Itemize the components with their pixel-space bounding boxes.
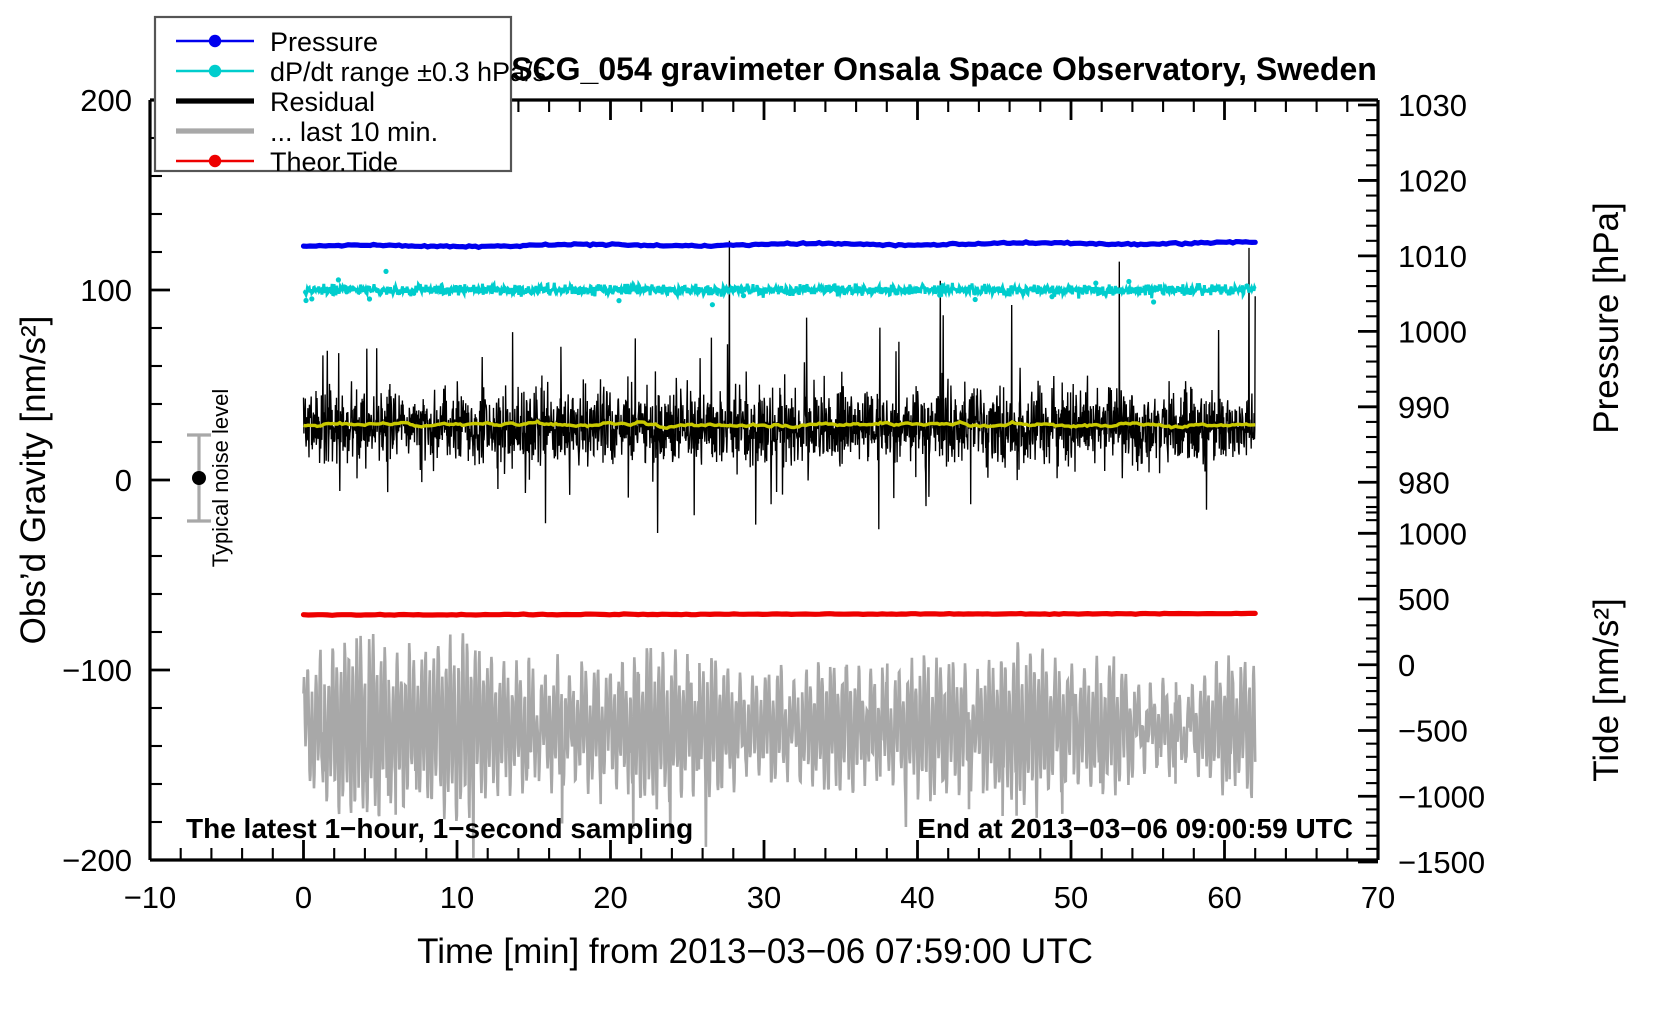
dpdt-outlier-point — [963, 287, 968, 292]
right-pressure-axis-title: Pressure [hPa] — [1587, 202, 1626, 434]
right-pressure-tick-label: 1020 — [1398, 163, 1467, 198]
chart-title: SCG_054 gravimeter Onsala Space Observat… — [511, 51, 1377, 87]
bottom-tick-label: 10 — [440, 880, 474, 915]
right-tide-tick-label: −1500 — [1398, 845, 1485, 880]
dpdt-outlier-point — [344, 289, 349, 294]
right-pressure-tick-label: 1010 — [1398, 239, 1467, 274]
legend-marker-1 — [209, 65, 221, 77]
bottom-tick-label: 70 — [1361, 880, 1395, 915]
right-tide-tick-label: −1000 — [1398, 779, 1485, 814]
right-tide-tick-label: 0 — [1398, 648, 1415, 683]
y-axis-title: Obs’d Gravity [nm/s²] — [14, 316, 53, 645]
right-tide-tick-label: −500 — [1398, 714, 1468, 749]
dpdt-outlier-point — [1049, 294, 1054, 299]
dpdt-outlier-point — [309, 296, 314, 301]
legend-label-0: Pressure — [270, 27, 378, 57]
dpdt-outlier-point — [1067, 287, 1072, 292]
right-tide-axis-title: Tide [nm/s²] — [1587, 598, 1626, 781]
dpdt-outlier-point — [336, 277, 341, 282]
bottom-tick-label: 60 — [1207, 880, 1241, 915]
bottom-tick-label: 20 — [593, 880, 627, 915]
dpdt-outlier-point — [710, 302, 715, 307]
dpdt-outlier-point — [1093, 281, 1098, 286]
left-tick-label: −200 — [62, 843, 132, 878]
dpdt-outlier-point — [973, 297, 978, 302]
chart-root: −200−1000100200 −10010203040506070 98099… — [0, 0, 1660, 1020]
dpdt-outlier-point — [367, 296, 372, 301]
annotation-bottom-right: End at 2013−03−06 09:00:59 UTC — [917, 813, 1353, 844]
right-tide-tick-label: 1000 — [1398, 516, 1467, 551]
dpdt-outlier-point — [616, 298, 621, 303]
bottom-tick-label: 30 — [747, 880, 781, 915]
dpdt-outlier-point — [730, 286, 735, 291]
dpdt-outlier-point — [1151, 299, 1156, 304]
annotation-bottom-left: The latest 1−hour, 1−second sampling — [186, 813, 693, 844]
noise-level-marker — [192, 471, 206, 485]
left-tick-label: 200 — [80, 83, 132, 118]
series-theoretical-tide — [304, 613, 1256, 615]
legend: PressuredP/dt range ±0.3 hPa/sResidual..… — [155, 17, 546, 177]
right-tide-tick-label: 500 — [1398, 582, 1450, 617]
bottom-tick-label: 40 — [900, 880, 934, 915]
left-tick-label: 100 — [80, 273, 132, 308]
dpdt-outlier-point — [1169, 286, 1174, 291]
legend-marker-4 — [209, 155, 221, 167]
bottom-tick-label: 50 — [1054, 880, 1088, 915]
x-axis-title: Time [min] from 2013−03−06 07:59:00 UTC — [417, 932, 1093, 971]
legend-label-4: Theor.Tide — [270, 147, 398, 177]
left-tick-label: 0 — [115, 463, 132, 498]
legend-label-3: ... last 10 min. — [270, 117, 438, 147]
right-pressure-tick-label: 1030 — [1398, 88, 1467, 123]
bottom-tick-label: −10 — [124, 880, 177, 915]
right-pressure-tick-label: 980 — [1398, 465, 1450, 500]
dpdt-outlier-point — [741, 293, 746, 298]
left-tick-label: −100 — [62, 653, 132, 688]
right-pressure-tick-label: 990 — [1398, 390, 1450, 425]
dpdt-outlier-point — [1126, 279, 1131, 284]
dpdt-outlier-point — [404, 288, 409, 293]
bottom-tick-label: 0 — [295, 880, 312, 915]
legend-marker-0 — [209, 35, 221, 47]
legend-label-1: dP/dt range ±0.3 hPa/s — [270, 57, 546, 87]
dpdt-outlier-point — [1244, 283, 1249, 288]
dpdt-outlier-point — [383, 269, 388, 274]
dpdt-outlier-point — [937, 293, 942, 298]
right-pressure-tick-label: 1000 — [1398, 314, 1467, 349]
noise-level-label: Typical noise level — [208, 389, 233, 568]
legend-label-2: Residual — [270, 87, 375, 117]
dpdt-outlier-point — [303, 298, 308, 303]
gravimeter-chart: −200−1000100200 −10010203040506070 98099… — [0, 0, 1660, 1020]
